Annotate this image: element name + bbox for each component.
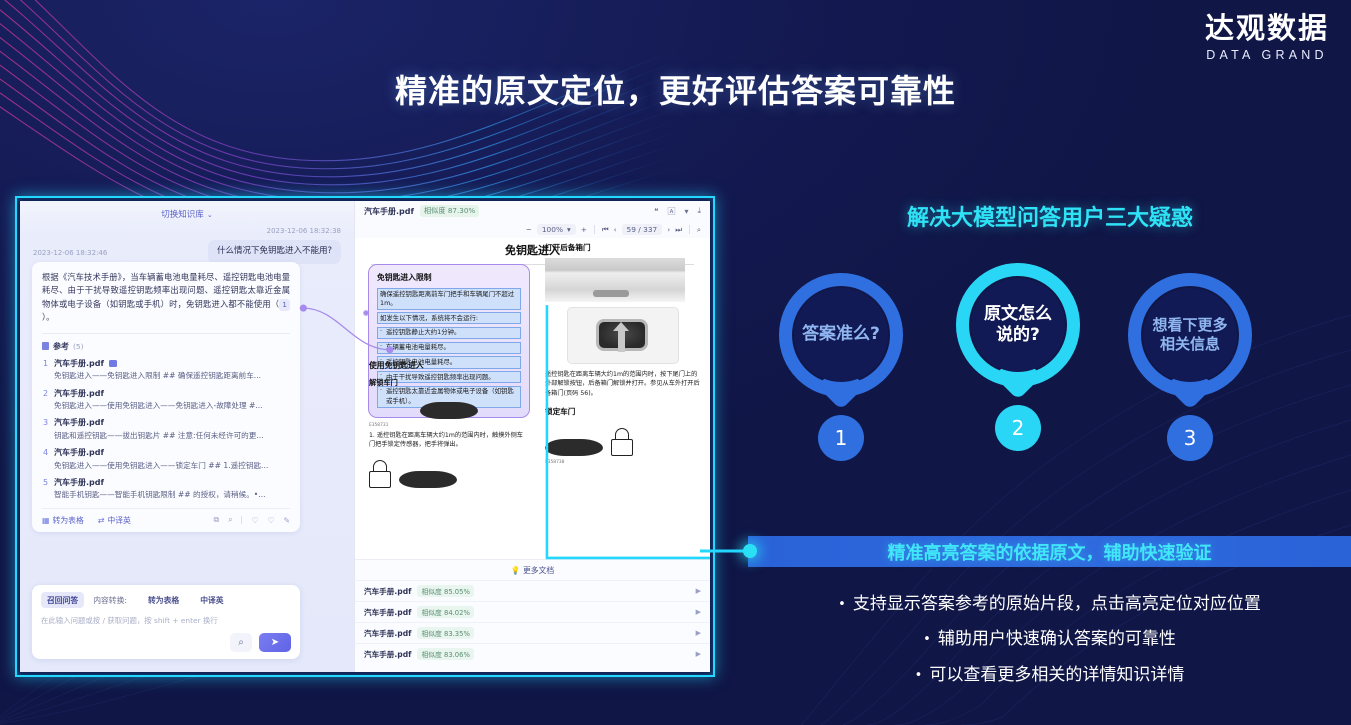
feature-banner: 精准高亮答案的依据原文，辅助快速验证	[748, 536, 1351, 567]
answer-body: 根据《汽车技术手册》，当车辆蓄电池电量耗尽、遥控钥匙电池电量耗尽、由于干扰导致遥…	[42, 272, 290, 309]
translate-cn-en-button[interactable]: ⇄ 中译英	[98, 515, 131, 526]
copy-icon[interactable]: ⧉	[214, 515, 220, 525]
bubble-label: 答案准么?	[779, 273, 903, 397]
chevron-right-icon[interactable]: ▶	[696, 608, 701, 616]
chevron-down-icon: ⌄	[207, 211, 213, 219]
feature-banner-text: 精准高亮答案的依据原文，辅助快速验证	[888, 539, 1212, 565]
similarity-value: 83.35%	[444, 630, 470, 638]
table-row[interactable]: 汽车手册.pdf 相似度 85.05% ▶	[355, 580, 710, 601]
bullet-3: •可以查看更多相关的详情知识详情	[748, 660, 1351, 685]
chat-pane: 切换知识库⌄ 2023-12-06 18:32:38 什么情况下免钥匙进入不能用…	[20, 201, 354, 672]
brand-name-en: DATA GRAND	[1205, 49, 1329, 62]
bullet-3-text: 可以查看更多相关的详情知识详情	[929, 665, 1184, 685]
pdf-header-tools: ❝ 🄰 ▾ ⤓	[654, 206, 701, 217]
reference-snippet: 免钥匙进入——使用免钥匙进入——锁定车门 ## 1.遥控钥匙...	[54, 461, 290, 471]
locate-source-icon[interactable]	[109, 360, 117, 367]
pdf-document-canvas[interactable]: 免钥匙进入 免钥匙进入限制 确保遥控钥匙距离前车门把手和车辆尾门不超过1m。 如…	[355, 238, 710, 559]
answer-card: 根据《汽车技术手册》，当车辆蓄电池电量耗尽、遥控钥匙电池电量耗尽、由于干扰导致遥…	[32, 262, 300, 532]
table-icon: ▦	[42, 516, 50, 525]
more-doc-name: 汽车手册.pdf	[364, 628, 411, 639]
bubble-number: 3	[1167, 415, 1213, 461]
list-item[interactable]: 5 汽车手册.pdf 智能手机钥匙——智能手机钥匙限制 ## 的授权，请稍候。•…	[42, 477, 290, 501]
pdf-section-open-trunk: 打开后备箱门 遥控钥匙在距离车辆大约1m的范围内时，按下尾门上的外部解锁按钮，后…	[545, 242, 700, 465]
trunk-photo-illustration	[545, 258, 685, 302]
pdf-similarity-badge: 相似度 87.30%	[420, 205, 479, 217]
bubble-label: 原文怎么 说的?	[956, 263, 1080, 387]
bullet-1: •支持显示答案参考的原始片段，点击高亮定位对应位置	[748, 589, 1351, 614]
similarity-label: 相似度	[421, 609, 441, 617]
similarity-value: 83.06%	[444, 651, 470, 659]
reference-filename[interactable]: 汽车手册.pdf	[54, 477, 104, 488]
similarity-label: 相似度	[421, 651, 441, 659]
toolbar-divider	[689, 225, 690, 234]
answer-timestamp: 2023-12-06 18:32:46	[33, 249, 107, 257]
thumbs-up-icon[interactable]: ♡	[251, 516, 258, 525]
chat-input-placeholder[interactable]: 在此输入问题或按 / 获取问题，按 shift + enter 换行	[41, 615, 291, 626]
reference-filename[interactable]: 汽车手册.pdf	[54, 388, 104, 399]
convert-to-table-label: 转为表格	[53, 515, 84, 526]
prev-page-button[interactable]: ‹	[614, 225, 617, 234]
references-count: (5)	[73, 342, 83, 351]
reference-filename[interactable]: 汽车手册.pdf	[54, 417, 104, 428]
search-icon[interactable]: ⌕	[230, 633, 252, 652]
product-screenshot: 切换知识库⌄ 2023-12-06 18:32:38 什么情况下免钥匙进入不能用…	[20, 201, 710, 672]
highlight-heading: 免钥匙进入限制	[377, 272, 521, 283]
similarity-value: 84.02%	[444, 609, 470, 617]
question-bubble-2: 原文怎么 说的? 2	[943, 263, 1093, 423]
section-subheading: 解锁车门	[369, 378, 529, 388]
last-page-button[interactable]: ⏭	[675, 225, 682, 235]
answer-text: 根据《汽车技术手册》，当车辆蓄电池电量耗尽、遥控钥匙电池电量耗尽、由于干扰导致遥…	[42, 271, 290, 325]
more-doc-name: 汽车手册.pdf	[364, 607, 411, 618]
chevron-right-icon[interactable]: ▶	[696, 650, 701, 658]
similarity-label: 相似度	[421, 630, 441, 638]
reference-index: 2	[42, 389, 49, 398]
table-row[interactable]: 汽车手册.pdf 相似度 84.02% ▶	[355, 601, 710, 622]
chevron-right-icon[interactable]: ▶	[696, 629, 701, 637]
section-heading: 使用免钥匙进入	[369, 360, 529, 371]
column-heading: 打开后备箱门	[545, 242, 700, 253]
text-layer-icon[interactable]: 🄰	[667, 206, 675, 217]
chevron-down-icon: ▾	[567, 225, 571, 234]
zoom-level-value: 100%	[542, 225, 563, 234]
chat-composer: 召回问答 内容转换: 转为表格 中译英 在此输入问题或按 / 获取问题，按 sh…	[32, 585, 300, 659]
section-body: 1. 遥控钥匙在距离车辆大约1m的范围内时，触摸外侧车门把手锁定传感器，把手将弹…	[369, 431, 529, 450]
column-subheading: 锁定车门	[545, 406, 700, 417]
toolbar-divider	[594, 225, 595, 234]
recall-qa-chip[interactable]: 召回问答	[41, 592, 84, 608]
bullet-marker: •	[923, 632, 931, 647]
reference-snippet: 智能手机钥匙——智能手机钥匙限制 ## 的授权，请稍候。•...	[54, 490, 290, 500]
list-item[interactable]: 4 汽车手册.pdf 免钥匙进入——使用免钥匙进入——锁定车门 ## 1.遥控钥…	[42, 447, 290, 471]
next-page-button[interactable]: ›	[667, 225, 670, 234]
reference-filename[interactable]: 汽车手册.pdf	[54, 358, 104, 369]
bullet-2: •辅助用户快速确认答案的可靠性	[748, 624, 1351, 649]
list-item[interactable]: 1 汽车手册.pdf 免钥匙进入——免钥匙进入限制 ## 确保遥控钥匙距离前车.…	[42, 358, 290, 382]
similarity-value: 87.30%	[448, 206, 475, 215]
reference-index: 5	[42, 478, 49, 487]
reference-snippet: 免钥匙进入——使用免钥匙进入——免钥匙进入-故障处理 #...	[54, 401, 290, 411]
thumbs-down-icon[interactable]: ♡	[267, 516, 274, 525]
composer-to-table-chip[interactable]: 转为表格	[142, 592, 185, 608]
switch-kb-label: 切换知识库	[161, 210, 204, 220]
column-body: 遥控钥匙在距离车辆大约1m的范围内时，按下尾门上的外部解锁按钮，后备箱门解锁并打…	[545, 370, 700, 398]
chevron-right-icon[interactable]: ▶	[696, 587, 701, 595]
more-documents-label: 更多文档	[523, 566, 554, 575]
list-item[interactable]: 2 汽车手册.pdf 免钥匙进入——使用免钥匙进入——免钥匙进入-故障处理 #.…	[42, 388, 290, 412]
bullet-2-text: 辅助用户快速确认答案的可靠性	[938, 629, 1176, 649]
hand-illustration	[369, 402, 529, 419]
answer-divider	[42, 333, 290, 334]
bullet-1-text: 支持显示答案参考的原始片段，点击高亮定位对应位置	[853, 594, 1261, 614]
figure-code: E358730	[545, 460, 700, 465]
figure-code: E358731	[369, 423, 529, 428]
search-icon[interactable]: ⌕	[228, 515, 232, 525]
edit-icon[interactable]: ✎	[283, 516, 290, 525]
more-documents-header[interactable]: 💡 更多文档	[355, 560, 710, 580]
more-doc-name: 汽车手册.pdf	[364, 649, 411, 660]
pdf-filename: 汽车手册.pdf	[364, 206, 414, 217]
question-bubble-3: 想看下更多 相关信息 3	[1115, 273, 1265, 433]
composer-chips: 召回问答 内容转换: 转为表格 中译英	[41, 592, 291, 608]
citation-chip[interactable]: 1	[279, 299, 290, 311]
action-divider	[241, 516, 242, 524]
brand-name-cn: 达观数据	[1205, 14, 1329, 43]
more-doc-similarity: 相似度 83.35%	[417, 627, 473, 639]
quote-icon[interactable]: ❝	[654, 207, 658, 216]
table-row[interactable]: 汽车手册.pdf 相似度 83.35% ▶	[355, 622, 710, 643]
convert-to-table-button[interactable]: ▦ 转为表格	[42, 515, 84, 526]
reference-index: 4	[42, 448, 49, 457]
zoom-level-select[interactable]: 100% ▾	[537, 224, 576, 235]
more-documents-panel: 💡 更多文档 汽车手册.pdf 相似度 85.05% ▶ 汽车手册.pdf 相似…	[355, 559, 710, 672]
more-doc-similarity: 相似度 84.02%	[417, 606, 473, 618]
switch-knowledge-base-button[interactable]: 切换知识库⌄	[20, 208, 354, 220]
pdf-header: 汽车手册.pdf 相似度 87.30% ❝ 🄰 ▾ ⤓	[355, 201, 710, 221]
search-icon[interactable]: ⌕	[697, 225, 701, 235]
bullet-marker: •	[915, 668, 923, 683]
highlight-line: 确保遥控钥匙距离前车门把手和车辆尾门不超过1m。	[377, 288, 521, 310]
composer-buttons: ⌕ ➤	[230, 633, 291, 652]
answer-action-bar: ▦ 转为表格 ⇄ 中译英 ⧉ ⌕ ♡ ♡ ✎	[42, 508, 290, 526]
bubble-label: 想看下更多 相关信息	[1128, 273, 1252, 397]
similarity-label: 相似度	[424, 206, 446, 215]
more-doc-similarity: 相似度 83.06%	[417, 648, 473, 660]
zoom-out-button[interactable]: −	[526, 225, 532, 234]
more-doc-name: 汽车手册.pdf	[364, 586, 411, 597]
reference-filename[interactable]: 汽车手册.pdf	[54, 447, 104, 458]
highlight-line: 如发生以下情况，系统将不会运行:	[377, 312, 521, 324]
bullet-marker: •	[838, 597, 846, 612]
reference-snippet: 免钥匙进入——免钥匙进入限制 ## 确保遥控钥匙距离前车...	[54, 371, 290, 381]
similarity-value: 85.05%	[444, 588, 470, 596]
bubbles-section-title: 解决大模型问答用户三大疑惑	[750, 200, 1350, 232]
user-question-bubble: 什么情况下免钥匙进入不能用?	[208, 240, 341, 264]
question-timestamp: 2023-12-06 18:32:38	[267, 227, 341, 235]
highlight-bullet: 遥控钥匙静止大约1分钟。	[377, 327, 521, 339]
brand-logo: 达观数据 DATA GRAND	[1205, 14, 1329, 62]
send-icon[interactable]: ➤	[259, 633, 291, 652]
reference-snippet: 钥匙和遥控钥匙——拔出钥匙片 ## 注意:任何未经许可的更...	[54, 431, 290, 441]
references-title: 参考	[53, 341, 69, 352]
lock-illustration	[369, 460, 529, 488]
translate-label: 中译英	[107, 515, 130, 526]
highlight-bullet: 车辆蓄电池电量耗尽。	[377, 342, 521, 354]
document-icon	[42, 342, 49, 350]
product-screenshot-frame: 切换知识库⌄ 2023-12-06 18:32:38 什么情况下免钥匙进入不能用…	[15, 196, 715, 677]
banner-connector-dot	[743, 544, 757, 558]
pdf-toolbar: − 100% ▾ + ⏮ ‹ 59 / 337 › ⏭ ⌕	[355, 221, 710, 238]
answer-tail: ）。	[42, 312, 54, 322]
pdf-viewer-pane: 汽车手册.pdf 相似度 87.30% ❝ 🄰 ▾ ⤓ − 100% ▾ + ⏮…	[354, 201, 710, 672]
table-row[interactable]: 汽车手册.pdf 相似度 83.06% ▶	[355, 643, 710, 664]
bubble-number: 1	[818, 415, 864, 461]
similarity-label: 相似度	[421, 588, 441, 596]
chevron-down-icon[interactable]: ▾	[684, 207, 688, 216]
list-item[interactable]: 3 汽车手册.pdf 钥匙和遥控钥匙——拔出钥匙片 ## 注意:任何未经许可的更…	[42, 417, 290, 441]
reference-index: 1	[42, 359, 49, 368]
question-bubble-1: 答案准么? 1	[766, 273, 916, 433]
composer-translate-chip[interactable]: 中译英	[194, 592, 229, 608]
reference-index: 3	[42, 418, 49, 427]
trunk-button-photo	[568, 308, 678, 363]
zoom-in-button[interactable]: +	[581, 225, 587, 234]
lightbulb-icon: 💡	[511, 566, 521, 575]
more-doc-similarity: 相似度 85.05%	[417, 585, 473, 597]
translate-icon: ⇄	[98, 516, 105, 525]
first-page-button[interactable]: ⏮	[602, 225, 609, 235]
pdf-section-using-keyless: 使用免钥匙进入 解锁车门 E358731 1. 遥控钥匙在距离车辆大约1m的范围…	[369, 360, 529, 488]
references-header: 参考 (5)	[42, 341, 290, 352]
page-number-input[interactable]: 59 / 337	[622, 224, 663, 235]
bubble-number: 2	[995, 405, 1041, 451]
download-icon[interactable]: ⤓	[697, 206, 701, 216]
content-convert-label: 内容转换:	[93, 592, 133, 608]
page-title: 精准的原文定位，更好评估答案可靠性	[0, 66, 1351, 112]
lock-illustration-2	[545, 428, 700, 456]
